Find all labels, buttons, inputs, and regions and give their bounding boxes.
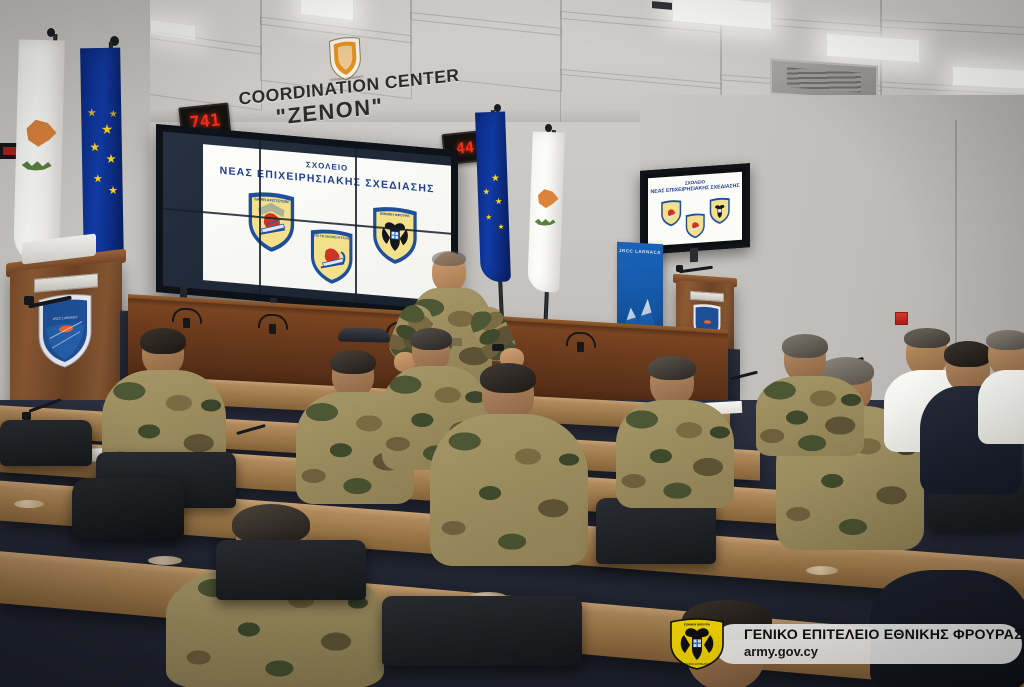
person-hair <box>480 363 536 393</box>
chair[interactable] <box>216 540 366 600</box>
person-torso <box>978 370 1024 444</box>
jrcc-banner-text: JRCC LARNACA <box>617 248 663 255</box>
head-table-mic-base <box>183 318 190 328</box>
photo-scene: ΚΥΠΡΙΑΚΗ ΔΗΜΟΚΡΑΤΙΑ COORDINATION CENTER … <box>0 0 1024 687</box>
speaker-hair <box>432 251 466 266</box>
mon2-crest-left-icon <box>659 199 683 228</box>
desk-mic-base <box>22 412 31 420</box>
person-torso <box>616 400 734 508</box>
flag-cyprus-left <box>13 39 65 265</box>
desk-grommet <box>806 566 838 575</box>
backpack <box>72 478 184 540</box>
audience-person <box>870 540 1024 687</box>
person-hair <box>986 330 1024 350</box>
audience-person <box>616 358 736 508</box>
mon2-crest-center-icon <box>684 212 707 240</box>
person-hair <box>232 504 310 544</box>
head-table-mic-base <box>577 342 584 352</box>
speaker-wristwatch <box>492 344 504 351</box>
person-hair <box>648 356 696 380</box>
mon2-crest-right-icon <box>708 197 731 226</box>
person-torso <box>756 376 864 456</box>
person-hair <box>140 328 186 354</box>
secondary-monitor[interactable]: ΣΧΟΛΕΙΟ ΝΕΑΣ ΕΠΙΧΕΙΡΗΣΙΑΚΗΣ ΣΧΕΔΙΑΣΗΣ <box>640 163 750 255</box>
watermark-text: ΓΕΝΙΚΟ ΕΠΙΤΕΛΕΙΟ ΕΘΝΙΚΗΣ ΦΡΟΥΡΑΣ army.go… <box>744 627 1023 659</box>
svg-text:ΕΘΝΙΚΗ ΦΡΟΥΡΑ: ΕΘΝΙΚΗ ΦΡΟΥΡΑ <box>684 623 711 627</box>
watermark-line-1: ΓΕΝΙΚΟ ΕΠΙΤΕΛΕΙΟ ΕΘΝΙΚΗΣ ΦΡΟΥΡΑΣ <box>744 627 1023 643</box>
svg-text:ΓΕΝΙΚΟ ΕΠΙΤΕΛΕΙΟ: ΓΕΝΙΚΟ ΕΠΙΤΕΛΕΙΟ <box>684 662 711 666</box>
audience-person <box>978 332 1024 442</box>
flag-eu-left <box>80 48 124 264</box>
person-hair <box>330 350 376 374</box>
lectern-right-mic-base <box>676 265 683 272</box>
watermark-line-2: army.gov.cy <box>744 644 1023 659</box>
audience-person <box>430 366 590 566</box>
desk-grommet <box>14 500 44 508</box>
head-table-mic-base <box>269 324 276 334</box>
person-torso <box>430 414 588 566</box>
person-hair <box>782 334 828 358</box>
secondary-monitor-mount <box>690 248 698 263</box>
lectern-left-mic-base <box>24 296 34 305</box>
secondary-monitor-screen: ΣΧΟΛΕΙΟ ΝΕΑΣ ΕΠΙΧΕΙΡΗΣΙΑΚΗΣ ΣΧΕΔΙΑΣΗΣ <box>648 172 742 247</box>
chair[interactable] <box>0 420 92 466</box>
double-headed-eagle-shield-icon: ΕΘΝΙΚΗ ΦΡΟΥΡΑ ΓΕΝΙΚΟ ΕΠΙΤΕΛΕΙΟ <box>668 618 726 670</box>
fire-alarm-call-point[interactable] <box>895 312 908 325</box>
chair[interactable] <box>382 596 582 666</box>
person-hair <box>410 328 452 350</box>
audience-person <box>756 336 866 456</box>
